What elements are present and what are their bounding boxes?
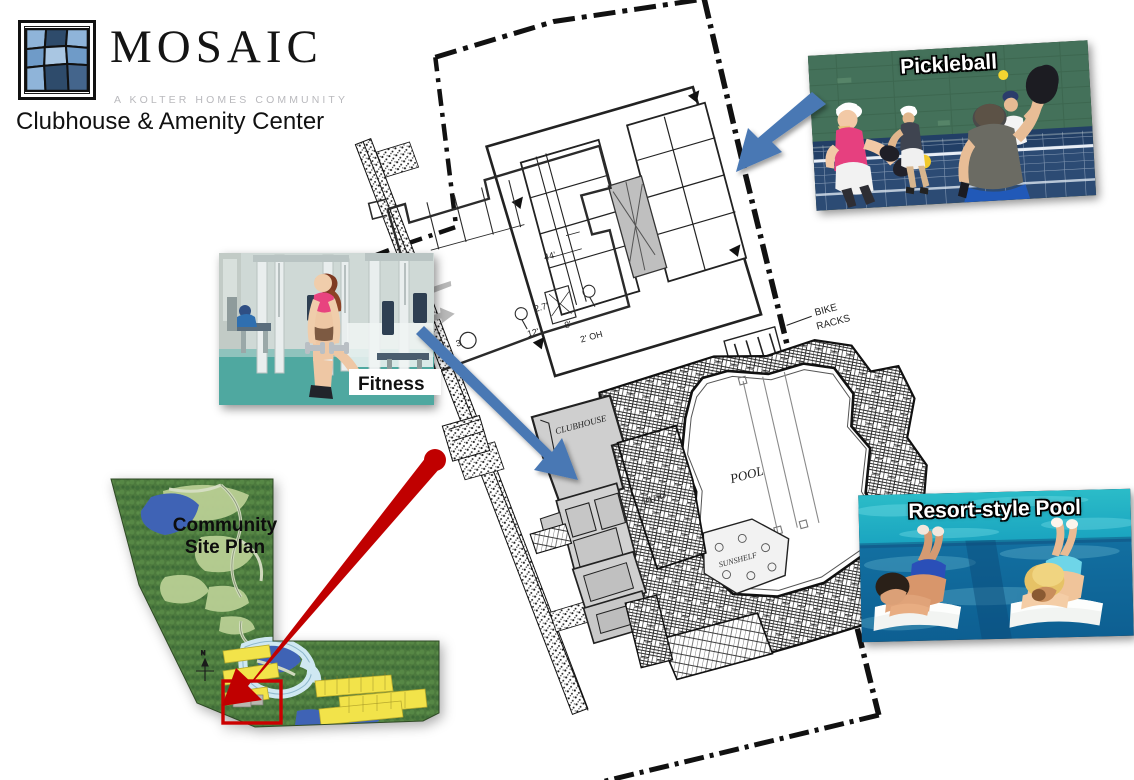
pickleball-pointer-arrow xyxy=(736,92,826,172)
annotation-arrows xyxy=(0,0,1134,768)
slide-canvas: 20' 44' 2.7' BIKE RACKS xyxy=(0,0,1134,768)
site-location-pointer-arrow xyxy=(222,449,446,706)
